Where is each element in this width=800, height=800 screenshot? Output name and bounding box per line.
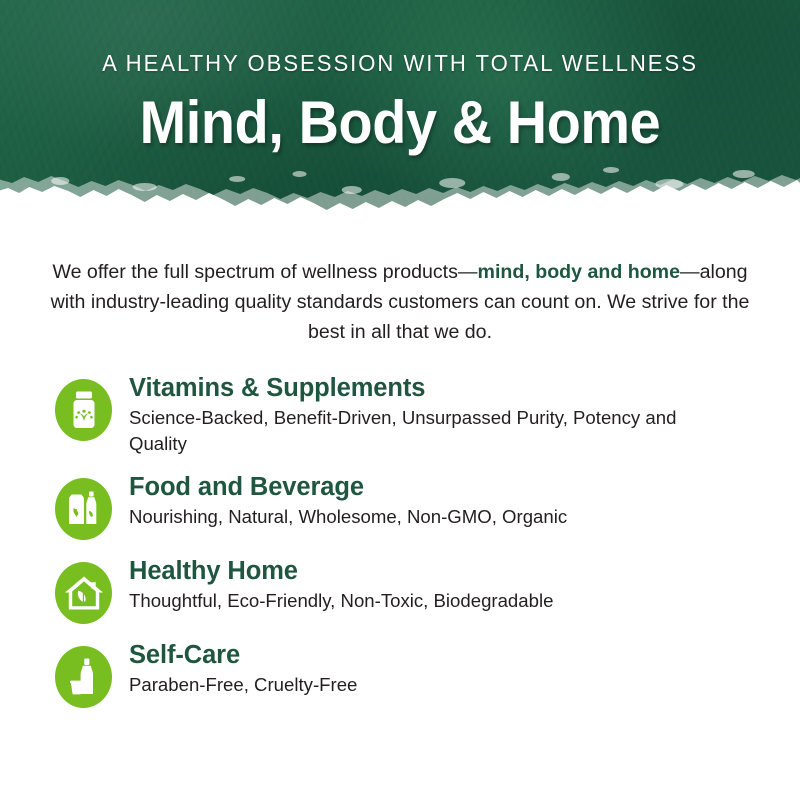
feature-text-block: Food and Beverage Nourishing, Natural, W… (112, 472, 567, 529)
intro-text-part-1: We offer the full spectrum of wellness p… (52, 261, 477, 283)
hero-banner: A HEALTHY OBSESSION WITH TOTAL WELLNESS … (0, 0, 800, 232)
feature-title: Self-Care (129, 641, 240, 669)
hero-content: A HEALTHY OBSESSION WITH TOTAL WELLNESS … (0, 0, 800, 153)
feature-item-vitamins-supplements: Vitamins & Supplements Science-Backed, B… (0, 373, 800, 456)
intro-accent-phrase: mind, body and home (478, 261, 680, 283)
feature-text-block: Healthy Home Thoughtful, Eco-Friendly, N… (112, 556, 553, 613)
feature-title: Food and Beverage (129, 473, 364, 501)
hero-headline: Mind, Body & Home (28, 93, 772, 153)
feature-description: Nourishing, Natural, Wholesome, Non-GMO,… (129, 504, 567, 529)
feature-list: Vitamins & Supplements Science-Backed, B… (0, 347, 800, 708)
house-with-leaf-icon (55, 562, 112, 624)
feature-title: Healthy Home (129, 557, 298, 585)
feature-description: Thoughtful, Eco-Friendly, Non-Toxic, Bio… (129, 588, 553, 613)
feature-item-self-care: Self-Care Paraben-Free, Cruelty-Free (0, 640, 800, 708)
feature-text-block: Vitamins & Supplements Science-Backed, B… (112, 373, 729, 456)
hero-eyebrow: A HEALTHY OBSESSION WITH TOTAL WELLNESS (24, 52, 776, 76)
feature-description: Paraben-Free, Cruelty-Free (129, 672, 357, 697)
feature-description: Science-Backed, Benefit-Driven, Unsurpas… (129, 405, 729, 456)
food-pouch-and-bottle-icon (55, 478, 112, 540)
intro-paragraph: We offer the full spectrum of wellness p… (50, 232, 750, 347)
feature-item-healthy-home: Healthy Home Thoughtful, Eco-Friendly, N… (0, 556, 800, 624)
lotion-bottle-and-bowl-icon (55, 646, 112, 708)
feature-item-food-beverage: Food and Beverage Nourishing, Natural, W… (0, 472, 800, 540)
feature-title: Vitamins & Supplements (129, 374, 425, 402)
supplement-bottle-icon (55, 379, 112, 441)
feature-text-block: Self-Care Paraben-Free, Cruelty-Free (112, 640, 357, 697)
